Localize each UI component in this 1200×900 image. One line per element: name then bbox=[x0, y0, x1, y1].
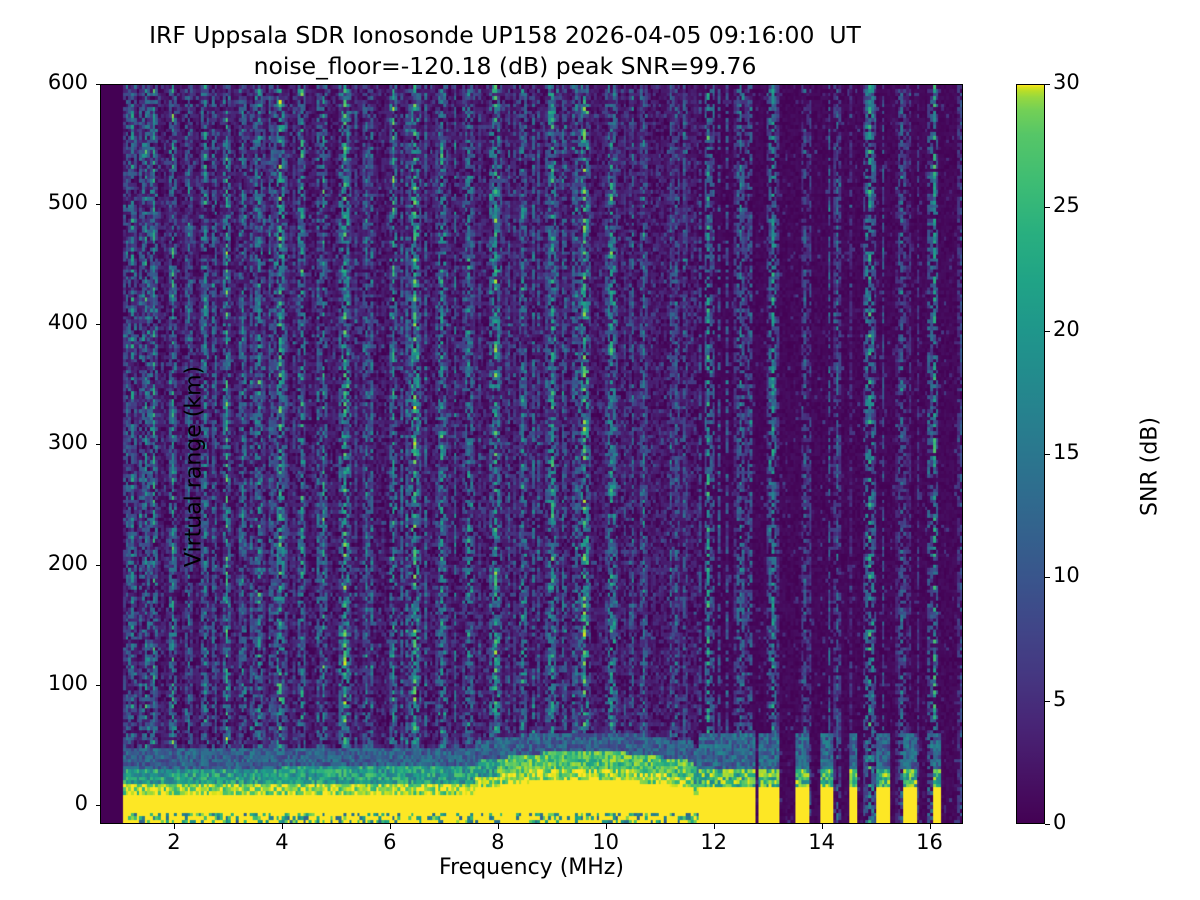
colorbar-tick-mark bbox=[1045, 207, 1050, 208]
x-tick-label: 2 bbox=[134, 830, 214, 854]
title-line-2: noise_floor=-120.18 (dB) peak SNR=99.76 bbox=[0, 51, 1010, 82]
x-tick-mark bbox=[390, 824, 391, 829]
ionogram-plot-area bbox=[100, 84, 963, 824]
x-tick-label: 12 bbox=[674, 830, 754, 854]
y-tick-label: 600 bbox=[0, 70, 88, 94]
colorbar-tick-label: 5 bbox=[1053, 687, 1066, 711]
x-tick-mark bbox=[714, 824, 715, 829]
colorbar-tick-label: 0 bbox=[1053, 810, 1066, 834]
x-tick-mark bbox=[282, 824, 283, 829]
colorbar-tick-mark bbox=[1045, 84, 1050, 85]
y-tick-mark bbox=[96, 84, 101, 85]
ionogram-figure: IRF Uppsala SDR Ionosonde UP158 2026-04-… bbox=[0, 0, 1200, 900]
y-tick-mark bbox=[96, 685, 101, 686]
colorbar-tick-mark bbox=[1045, 331, 1050, 332]
y-tick-label: 500 bbox=[0, 190, 88, 214]
x-tick-label: 6 bbox=[350, 830, 430, 854]
x-tick-mark bbox=[606, 824, 607, 829]
colorbar-tick-mark bbox=[1045, 701, 1050, 702]
x-tick-label: 14 bbox=[782, 830, 862, 854]
ionogram-heatmap bbox=[101, 85, 962, 823]
title-line-1: IRF Uppsala SDR Ionosonde UP158 2026-04-… bbox=[0, 20, 1010, 51]
y-tick-mark bbox=[96, 805, 101, 806]
x-tick-mark bbox=[174, 824, 175, 829]
x-tick-label: 8 bbox=[458, 830, 538, 854]
x-tick-mark bbox=[822, 824, 823, 829]
y-tick-label: 100 bbox=[0, 671, 88, 695]
colorbar-tick-label: 25 bbox=[1053, 193, 1080, 217]
x-tick-mark bbox=[930, 824, 931, 829]
colorbar bbox=[1016, 84, 1045, 824]
x-axis-label: Frequency (MHz) bbox=[100, 855, 963, 880]
y-tick-label: 400 bbox=[0, 310, 88, 334]
x-tick-label: 10 bbox=[566, 830, 646, 854]
y-tick-mark bbox=[96, 444, 101, 445]
colorbar-tick-label: 20 bbox=[1053, 317, 1080, 341]
x-tick-label: 16 bbox=[890, 830, 970, 854]
x-tick-mark bbox=[498, 824, 499, 829]
colorbar-tick-label: 10 bbox=[1053, 563, 1080, 587]
y-tick-label: 0 bbox=[0, 791, 88, 815]
y-tick-label: 300 bbox=[0, 430, 88, 454]
y-tick-label: 200 bbox=[0, 551, 88, 575]
colorbar-tick-mark bbox=[1045, 824, 1050, 825]
figure-title: IRF Uppsala SDR Ionosonde UP158 2026-04-… bbox=[0, 20, 1010, 81]
x-tick-label: 4 bbox=[242, 830, 322, 854]
y-tick-mark bbox=[96, 565, 101, 566]
colorbar-tick-label: 15 bbox=[1053, 440, 1080, 464]
y-tick-mark bbox=[96, 204, 101, 205]
colorbar-tick-mark bbox=[1045, 577, 1050, 578]
y-tick-mark bbox=[96, 324, 101, 325]
colorbar-tick-label: 30 bbox=[1053, 70, 1080, 94]
y-axis-label: Virtual range (km) bbox=[182, 267, 207, 667]
colorbar-tick-mark bbox=[1045, 454, 1050, 455]
colorbar-label: SNR (dB) bbox=[1138, 267, 1163, 667]
